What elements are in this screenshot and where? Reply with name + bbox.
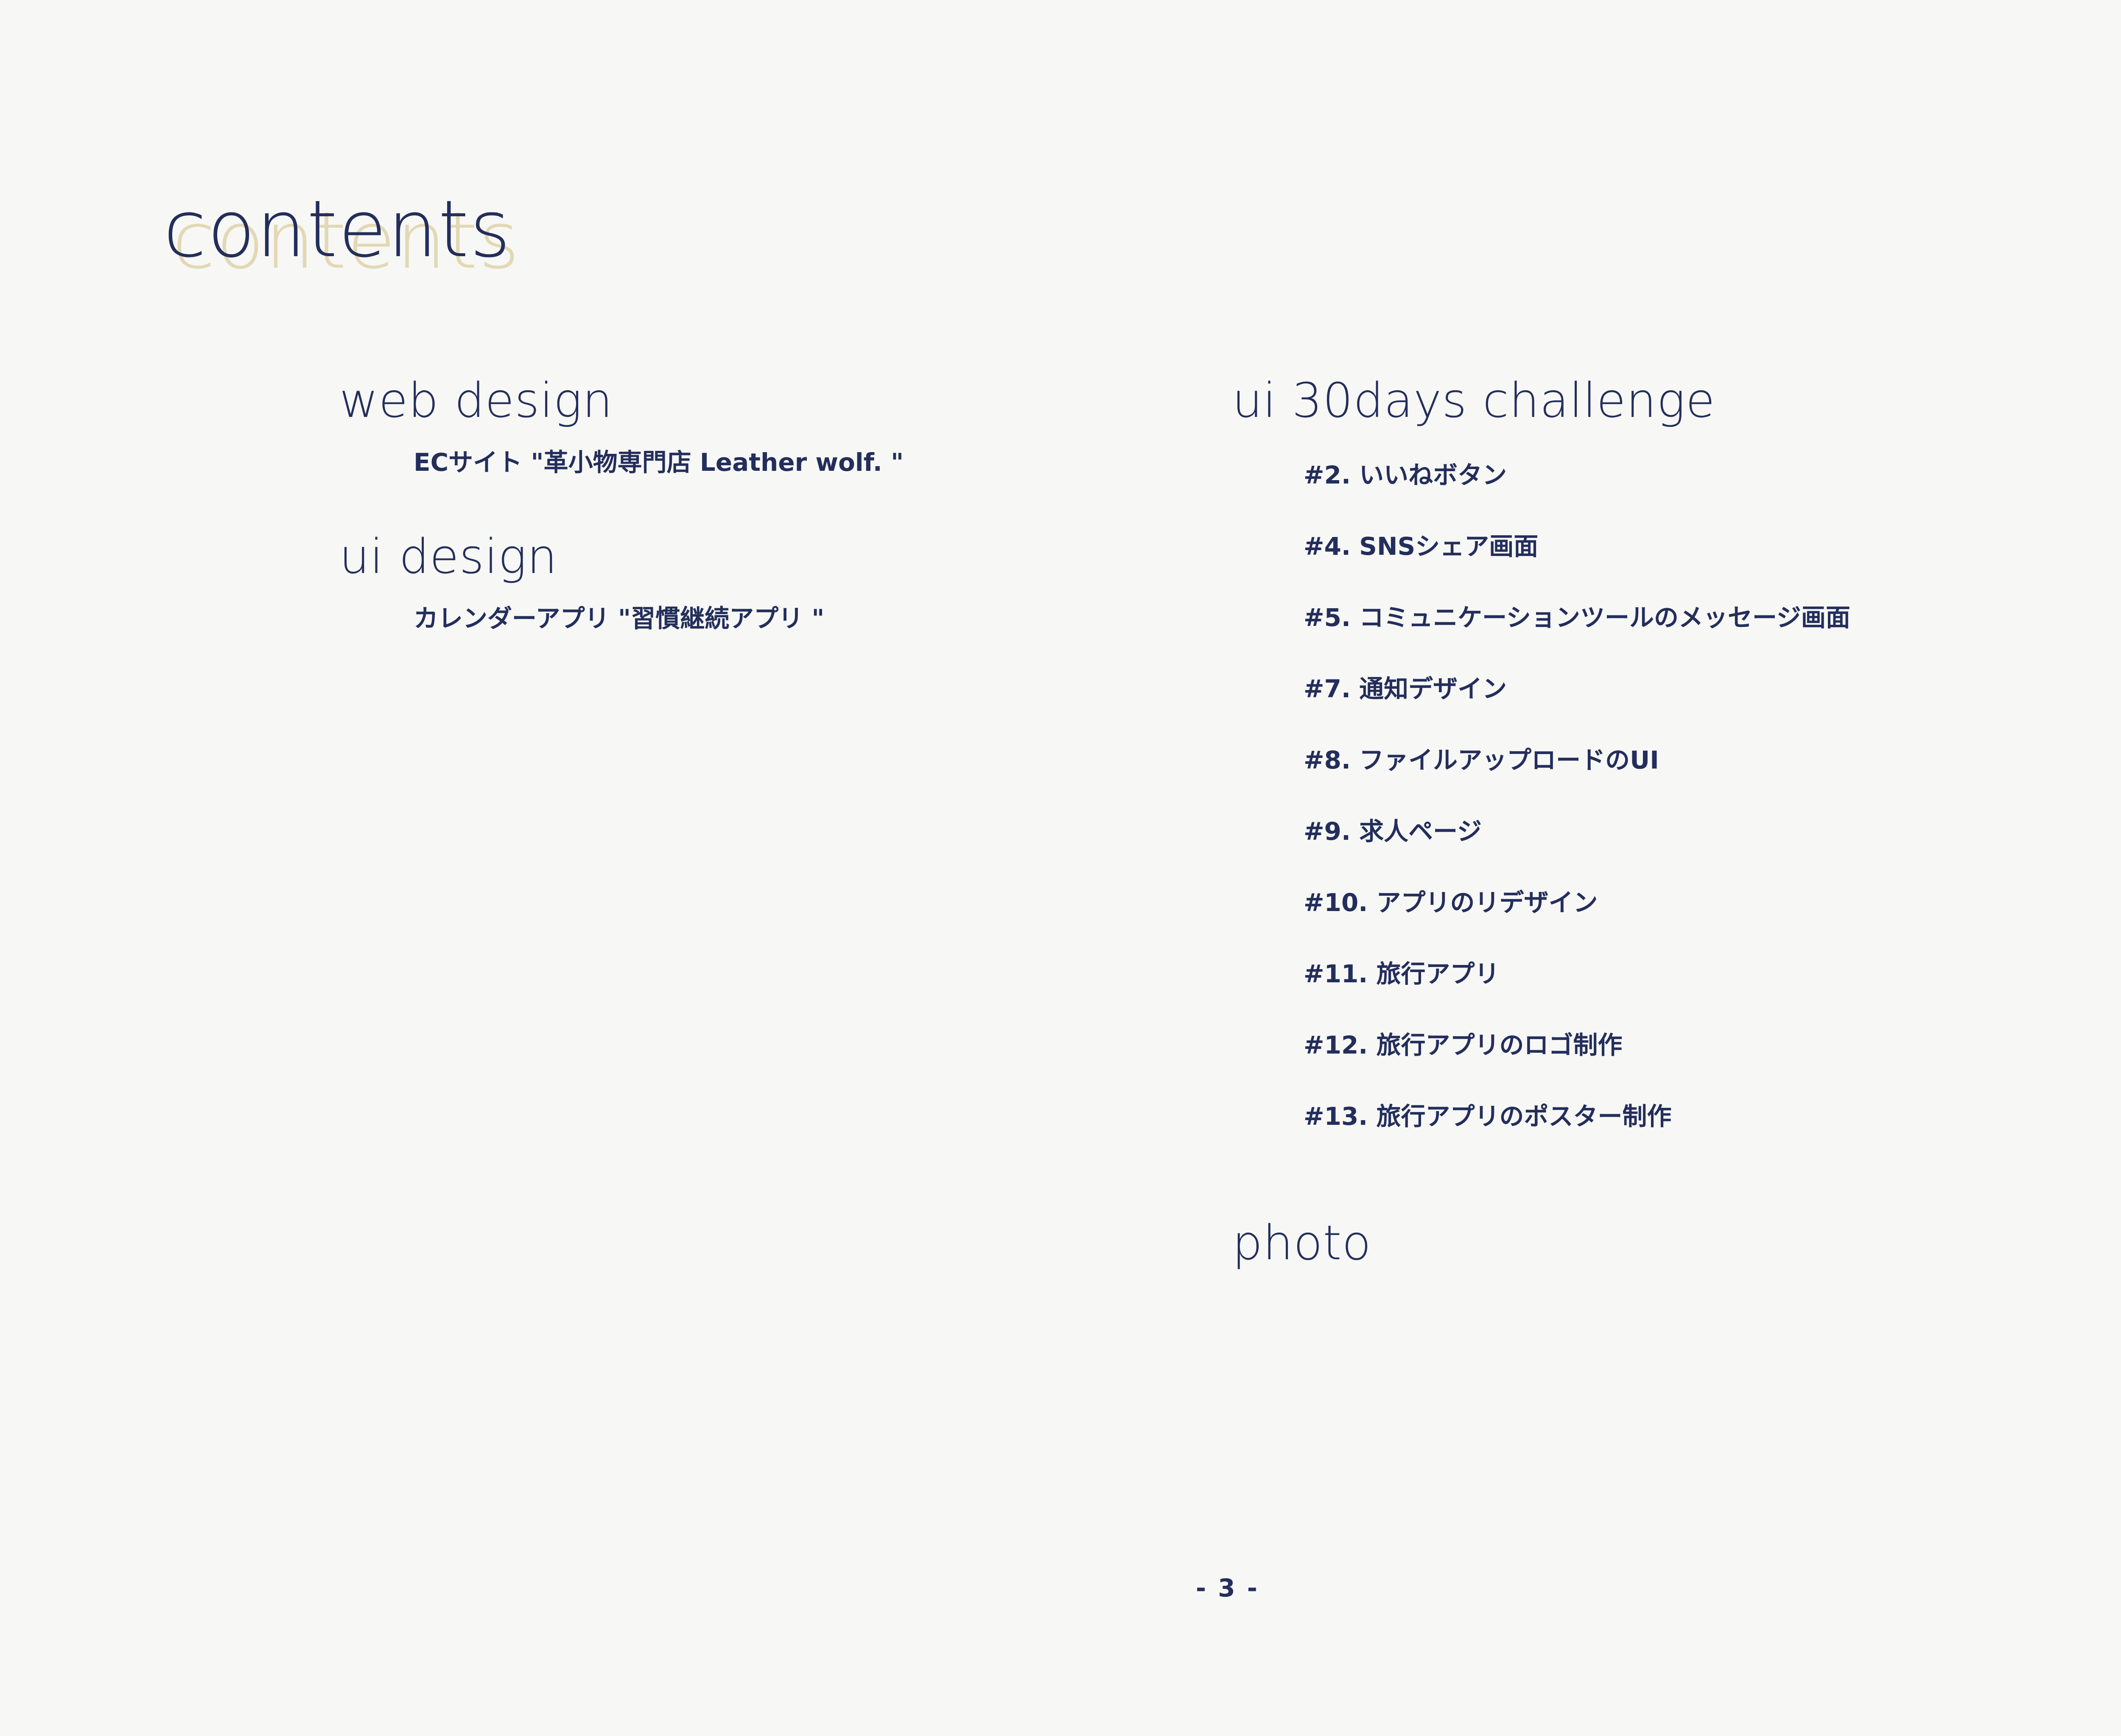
list-item[interactable]: #8. ファイルアップロードのUI bbox=[1304, 724, 2121, 796]
list-item[interactable]: #13. 旅行アプリのポスター制作 bbox=[1304, 1081, 2121, 1152]
section-ui-design: ui design カレンダーアプリ "習慣継続アプリ " bbox=[339, 529, 1188, 639]
section-photo: photo bbox=[1232, 1216, 2121, 1271]
section-items-ui-30days-challenge: #2. いいねボタン #4. SNSシェア画面 #5. コミュニケーションツール… bbox=[1232, 439, 2121, 1152]
list-item[interactable]: カレンダーアプリ "習慣継続アプリ " bbox=[414, 598, 1188, 639]
section-heading-photo: photo bbox=[1232, 1216, 2121, 1271]
list-item[interactable]: #2. いいねボタン bbox=[1304, 439, 2121, 511]
list-item[interactable]: #10. アプリのリデザイン bbox=[1304, 867, 2121, 938]
list-item[interactable]: #11. 旅行アプリ bbox=[1304, 938, 2121, 1009]
section-heading-ui-30days-challenge: ui 30days challenge bbox=[1232, 373, 2121, 428]
page-number: - 3 - bbox=[0, 1574, 2121, 1602]
section-heading-web-design: web design bbox=[339, 373, 1188, 428]
column-right: ui 30days challenge #2. いいねボタン #4. SNSシェ… bbox=[1232, 373, 2121, 1282]
section-items-web-design: ECサイト "革小物専門店 Leather wolf. " bbox=[339, 442, 1188, 483]
page-title: contents contents bbox=[163, 178, 842, 301]
list-item[interactable]: ECサイト "革小物専門店 Leather wolf. " bbox=[414, 442, 1188, 483]
list-item[interactable]: #12. 旅行アプリのロゴ制作 bbox=[1304, 1009, 2121, 1081]
section-heading-ui-design: ui design bbox=[339, 529, 1188, 584]
list-item[interactable]: #7. 通知デザイン bbox=[1304, 653, 2121, 724]
list-item[interactable]: #9. 求人ページ bbox=[1304, 796, 2121, 867]
list-item[interactable]: #5. コミュニケーションツールのメッセージ画面 bbox=[1304, 582, 2121, 653]
page-title-text: contents bbox=[163, 178, 512, 280]
slide-contents: contents contents web design ECサイト "革小物専… bbox=[0, 0, 2121, 1736]
section-ui-30days-challenge: ui 30days challenge #2. いいねボタン #4. SNSシェ… bbox=[1232, 373, 2121, 1152]
column-left: web design ECサイト "革小物専門店 Leather wolf. "… bbox=[339, 373, 1188, 639]
section-items-ui-design: カレンダーアプリ "習慣継続アプリ " bbox=[339, 598, 1188, 639]
section-web-design: web design ECサイト "革小物専門店 Leather wolf. " bbox=[339, 373, 1188, 483]
list-item[interactable]: #4. SNSシェア画面 bbox=[1304, 511, 2121, 582]
